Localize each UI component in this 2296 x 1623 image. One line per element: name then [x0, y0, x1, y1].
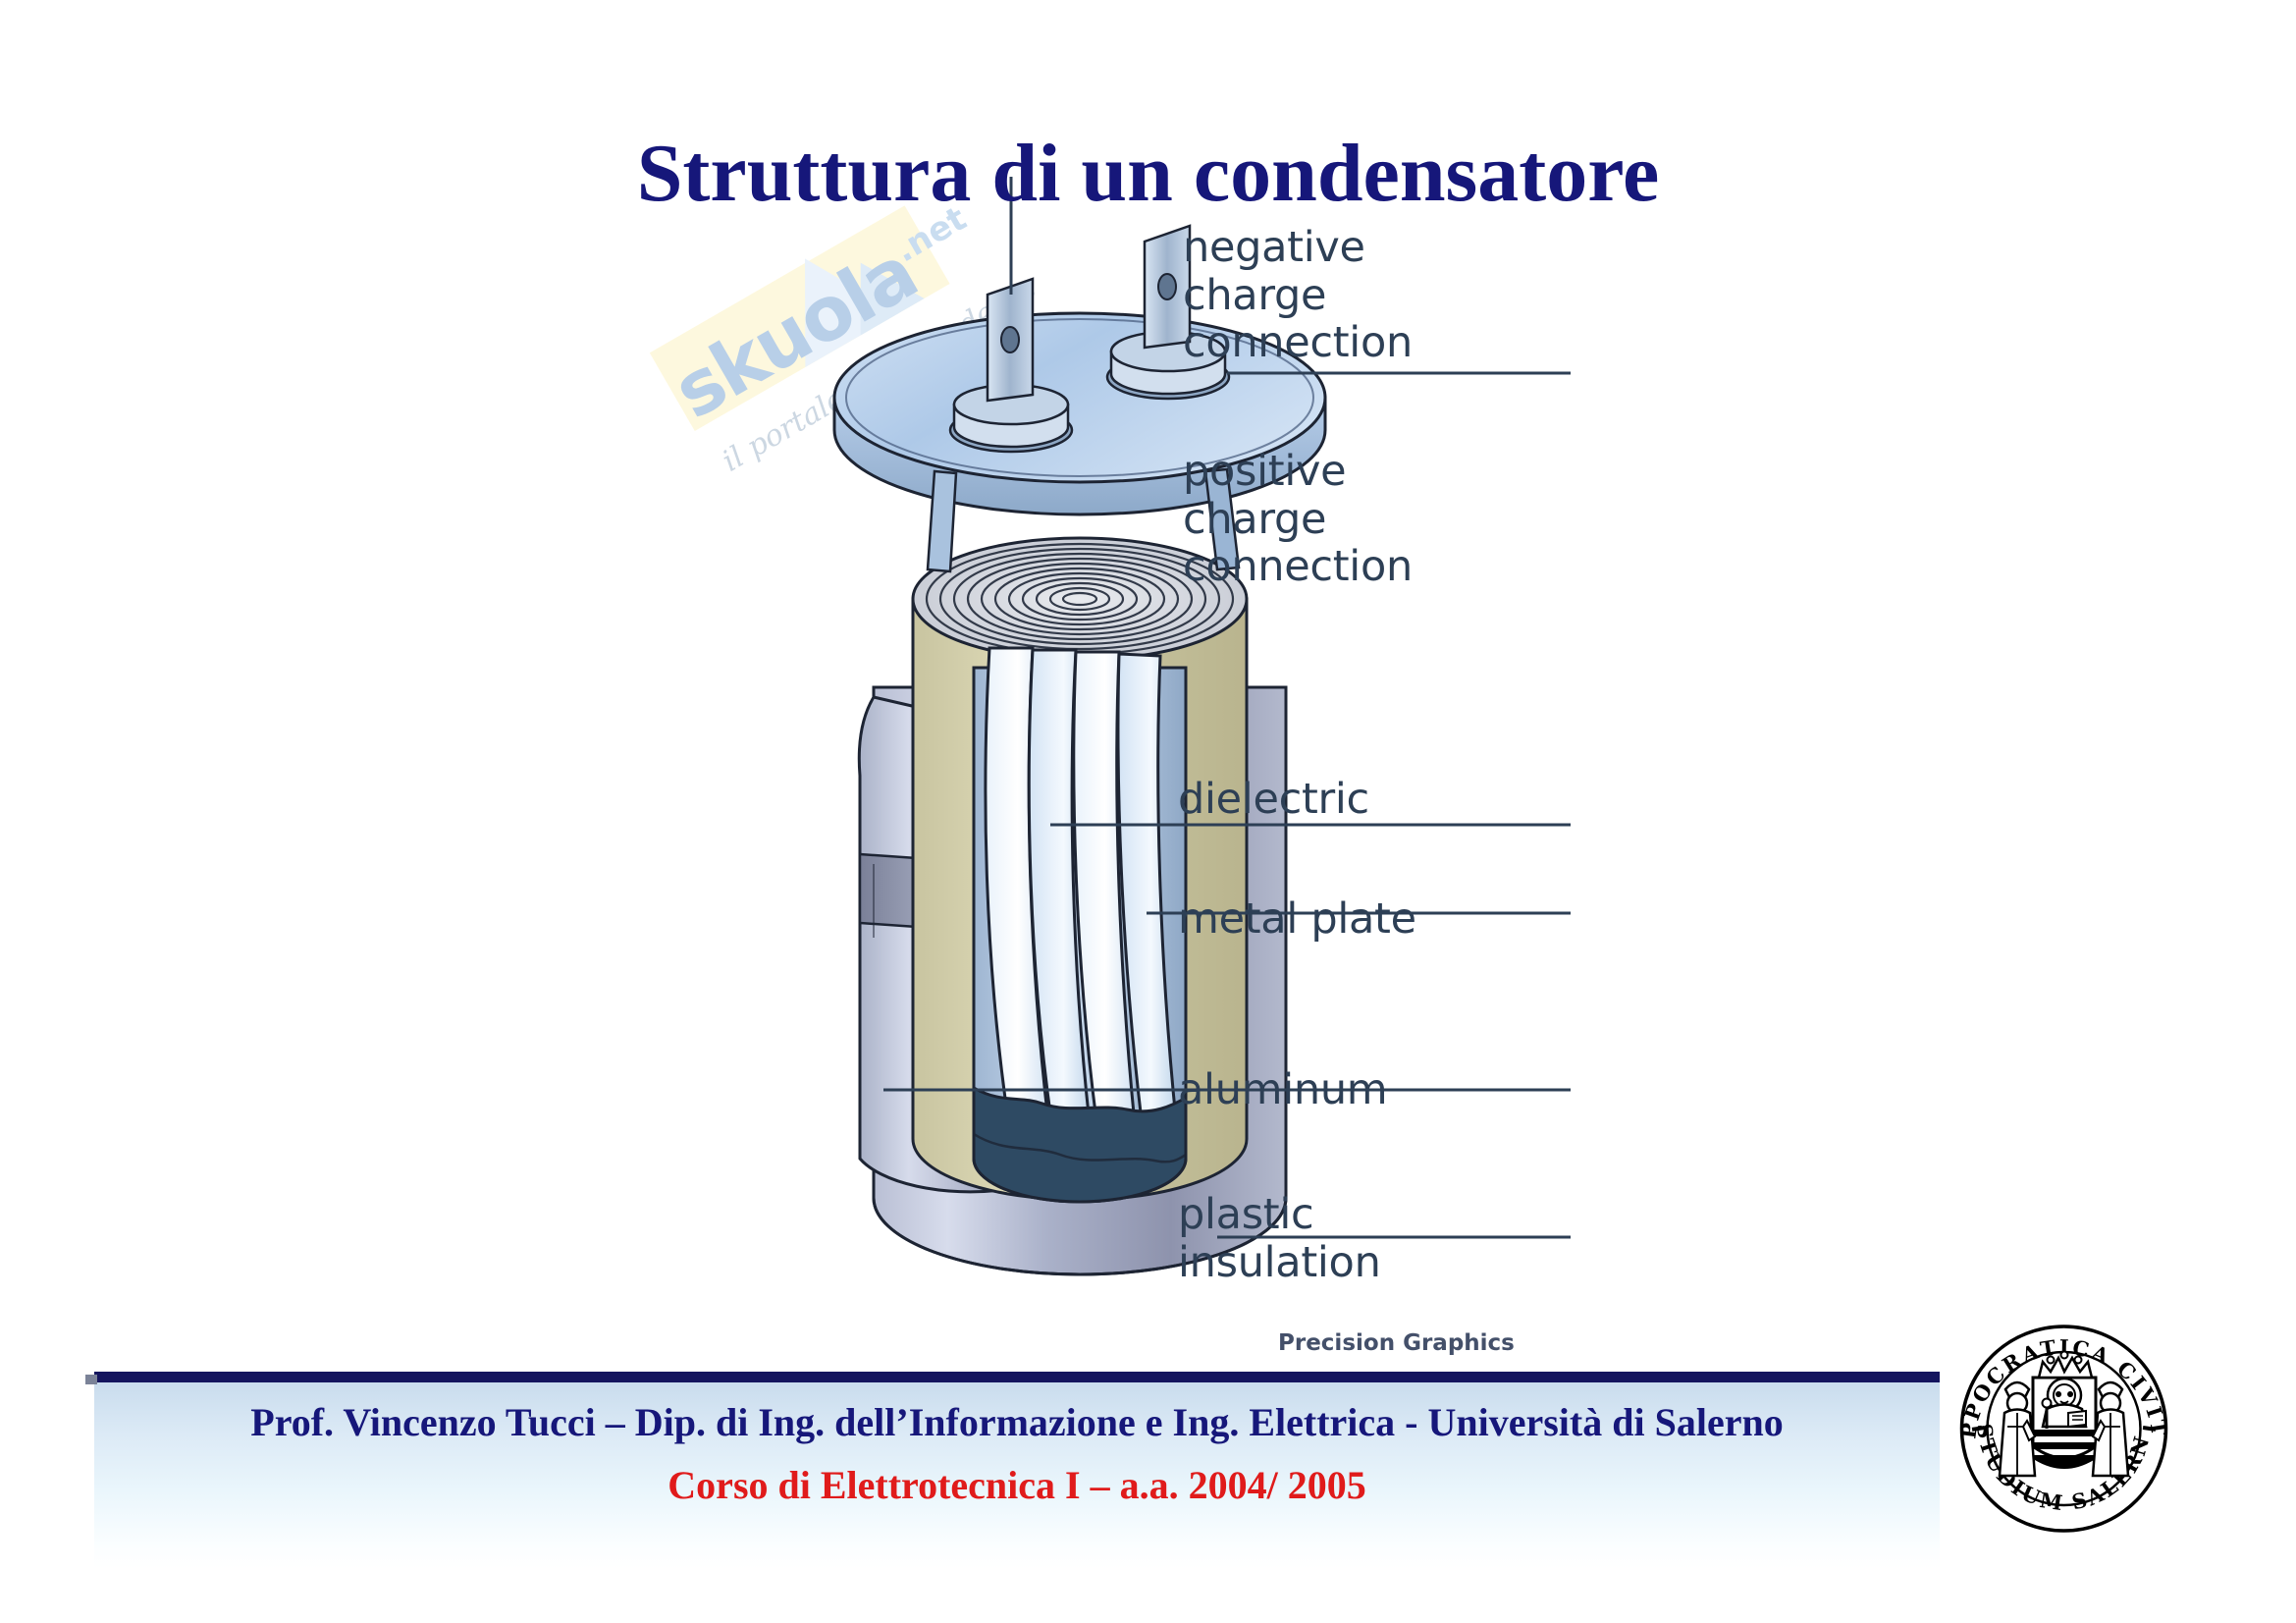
capacitor-diagram	[589, 177, 1571, 1394]
footer-course-line: Corso di Elettrotecnica I – a.a. 2004/ 2…	[94, 1462, 1940, 1508]
slide-footer: Prof. Vincenzo Tucci – Dip. di Ing. dell…	[94, 1372, 1940, 1568]
footer-divider	[94, 1372, 1940, 1382]
footer-author-line: Prof. Vincenzo Tucci – Dip. di Ing. dell…	[94, 1399, 1940, 1445]
label-metal-plate: metal plate	[1178, 895, 1416, 944]
footer-divider-cap	[85, 1375, 97, 1384]
label-negative-charge-connection: negative charge connection	[1183, 224, 1413, 367]
label-aluminum: aluminum	[1178, 1066, 1387, 1114]
university-seal: HIPPOCRATICA CIVITAS STUDIUM SALERNI	[1949, 1311, 2179, 1542]
label-dielectric: dielectric	[1178, 776, 1369, 824]
diagram-credit: Precision Graphics	[1278, 1330, 1515, 1356]
label-plastic-insulation: plastic insulation	[1178, 1191, 1381, 1286]
label-positive-charge-connection: positive charge connection	[1183, 448, 1413, 591]
page-title: Struttura di un condensatore	[0, 132, 2296, 216]
